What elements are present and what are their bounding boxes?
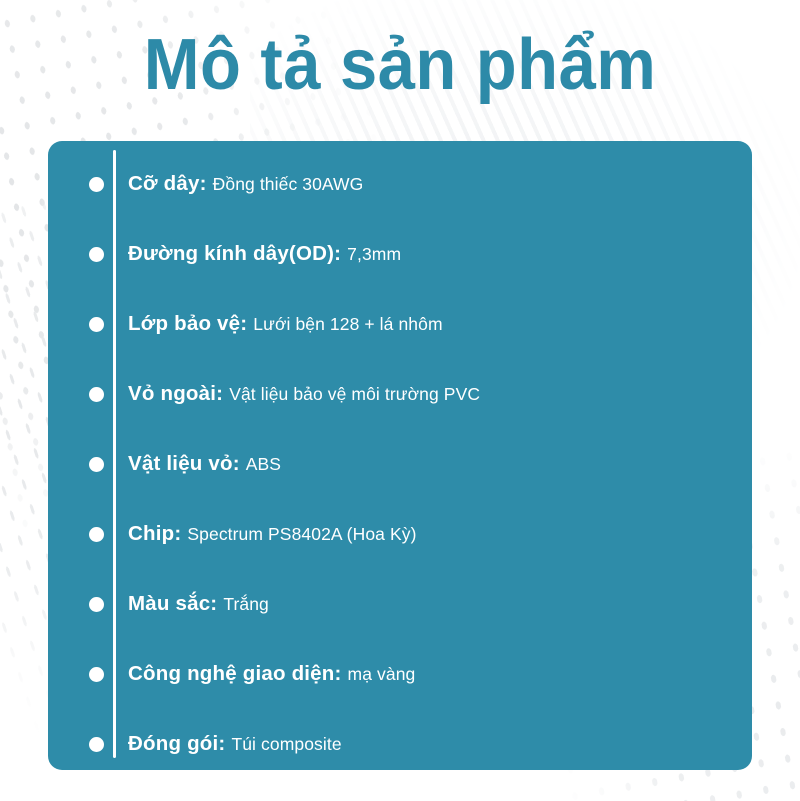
spec-text: Chip:Spectrum PS8402A (Hoa Kỳ) (128, 522, 441, 546)
bullet-icon (89, 247, 104, 262)
spec-text: Màu sắc:Trắng (128, 592, 293, 616)
spec-text: Lớp bảo vệ:Lưới bện 128 + lá nhôm (128, 312, 467, 336)
spec-value: Túi composite (231, 734, 341, 755)
spec-label: Chip: (128, 522, 181, 546)
spec-value: ABS (246, 454, 281, 475)
page-title: Mô tả sản phẩm (28, 24, 772, 106)
spec-text: Vỏ ngoài:Vật liệu bảo vệ môi trường PVC (128, 382, 504, 406)
spec-text: Công nghệ giao diện:mạ vàng (128, 662, 439, 686)
bullet-icon (89, 737, 104, 752)
spec-text: Vật liệu vỏ:ABS (128, 452, 305, 476)
spec-card: Cỡ dây:Đồng thiếc 30AWGĐường kính dây(OD… (48, 141, 752, 770)
spec-value: Vật liệu bảo vệ môi trường PVC (229, 384, 480, 405)
spec-row: Lớp bảo vệ:Lưới bện 128 + lá nhôm (48, 289, 752, 359)
spec-label: Công nghệ giao diện: (128, 662, 342, 686)
spec-row: Đường kính dây(OD):7,3mm (48, 219, 752, 289)
bullet-icon (89, 317, 104, 332)
spec-row: Màu sắc:Trắng (48, 569, 752, 639)
spec-value: mạ vàng (348, 664, 416, 685)
bullet-icon (89, 177, 104, 192)
bullet-icon (89, 387, 104, 402)
spec-value: Lưới bện 128 + lá nhôm (253, 314, 442, 335)
spec-value: 7,3mm (347, 244, 401, 265)
spec-label: Đóng gói: (128, 732, 225, 756)
bullet-icon (89, 667, 104, 682)
spec-text: Cỡ dây:Đồng thiếc 30AWG (128, 172, 387, 196)
spec-text: Đóng gói:Túi composite (128, 732, 366, 756)
spec-list: Cỡ dây:Đồng thiếc 30AWGĐường kính dây(OD… (48, 141, 752, 770)
spec-text: Đường kính dây(OD):7,3mm (128, 242, 425, 266)
spec-row: Vỏ ngoài:Vật liệu bảo vệ môi trường PVC (48, 359, 752, 429)
spec-value: Đồng thiếc 30AWG (213, 174, 364, 195)
spec-label: Lớp bảo vệ: (128, 312, 247, 336)
spec-label: Đường kính dây(OD): (128, 242, 341, 266)
spec-value: Spectrum PS8402A (Hoa Kỳ) (187, 524, 416, 545)
spec-row: Đóng gói:Túi composite (48, 709, 752, 779)
spec-row: Công nghệ giao diện:mạ vàng (48, 639, 752, 709)
spec-label: Cỡ dây: (128, 172, 207, 196)
bullet-icon (89, 597, 104, 612)
spec-label: Màu sắc: (128, 592, 217, 616)
product-description-page: Mô tả sản phẩm Cỡ dây:Đồng thiếc 30AWGĐư… (0, 0, 800, 801)
bullet-icon (89, 527, 104, 542)
spec-row: Cỡ dây:Đồng thiếc 30AWG (48, 149, 752, 219)
spec-value: Trắng (223, 594, 269, 615)
spec-label: Vỏ ngoài: (128, 382, 223, 406)
spec-row: Chip:Spectrum PS8402A (Hoa Kỳ) (48, 499, 752, 569)
bullet-icon (89, 457, 104, 472)
spec-row: Vật liệu vỏ:ABS (48, 429, 752, 499)
spec-label: Vật liệu vỏ: (128, 452, 240, 476)
